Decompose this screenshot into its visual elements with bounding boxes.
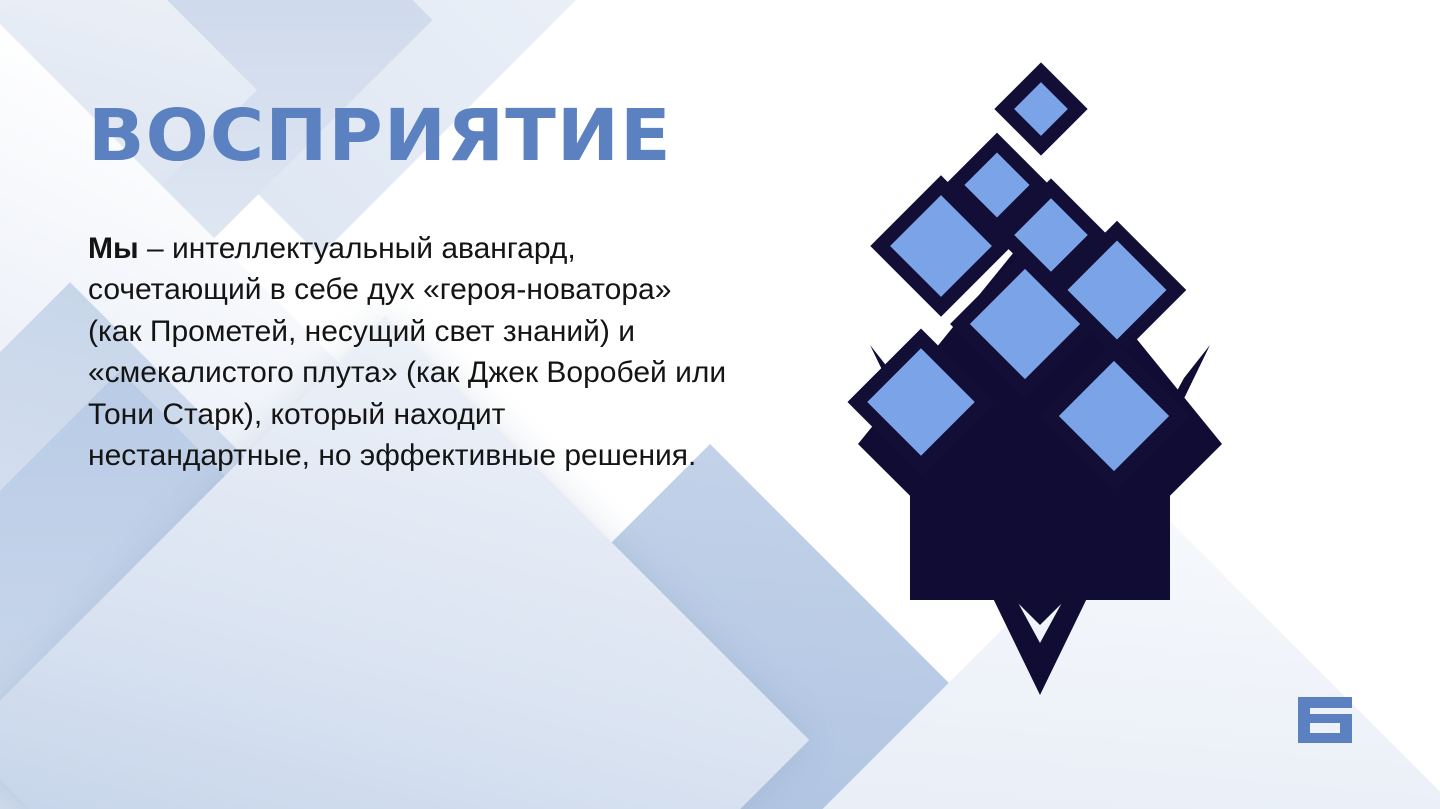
brand-logo-be [1296,695,1354,745]
text-content-block: ВОСПРИЯТИЕ Мы – интеллектуальный авангар… [88,100,748,476]
body-paragraph: Мы – интеллектуальный авангард, сочетающ… [88,228,728,476]
slide-canvas: ВОСПРИЯТИЕ Мы – интеллектуальный авангар… [0,0,1440,809]
emblem-diamond-1 [1004,72,1078,146]
body-rest-text: – интеллектуальный авангард, сочетающий … [88,232,726,472]
diamond-cluster-emblem [760,40,1320,740]
brand-letter-be-glyph [1298,697,1352,743]
page-title: ВОСПРИЯТИЕ [88,100,788,171]
body-lead-word: Мы [88,232,139,265]
